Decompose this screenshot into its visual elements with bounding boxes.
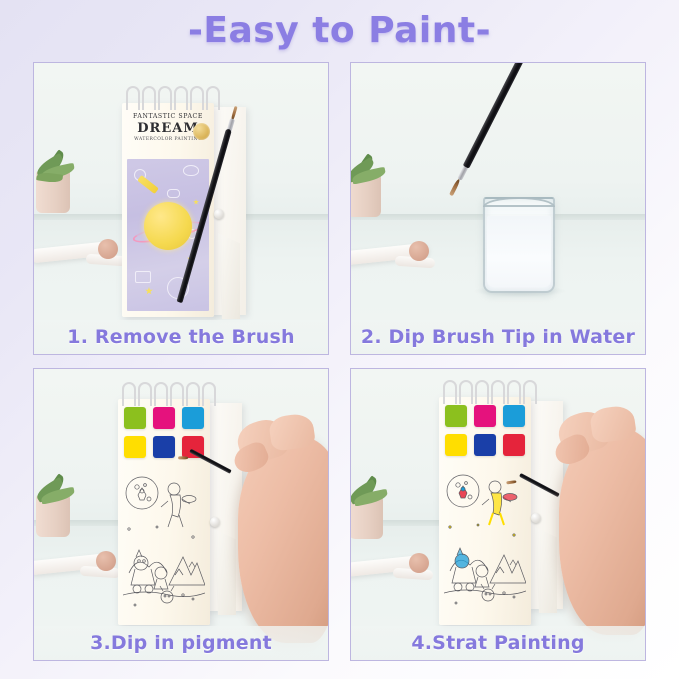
step-3-caption-bar: 3.Dip in pigment	[34, 626, 328, 660]
wood-knob-decor	[96, 551, 116, 571]
step-2-photo	[351, 63, 645, 354]
spiral-binding	[441, 380, 561, 406]
notebook-paint-page	[118, 399, 210, 625]
step-3-caption: 3.Dip in pigment	[90, 632, 272, 654]
wood-knob-decor	[409, 241, 429, 261]
step-1-caption-bar: 1. Remove the Brush	[34, 320, 328, 354]
gold-seal-icon	[193, 123, 210, 140]
step-panel-4: 4.Strat Painting	[350, 368, 646, 661]
step-1-photo: FANTASTIC SPACE DREAM WATERCOLOR PAINTIN…	[34, 63, 328, 354]
step-1-caption: 1. Remove the Brush	[67, 326, 294, 348]
swatch-yellow[interactable]	[124, 436, 146, 458]
pencil-doodle-icon	[137, 175, 159, 194]
step-4-caption-bar: 4.Strat Painting	[351, 626, 645, 660]
step-4-caption: 4.Strat Painting	[411, 632, 584, 654]
spiral-ring-icon	[443, 380, 457, 404]
page-title: -Easy to Paint-	[188, 10, 491, 51]
cover-line-1: FANTASTIC SPACE	[128, 113, 208, 120]
step-2-caption: 2. Dip Brush Tip in Water	[361, 326, 635, 348]
swatch-magenta[interactable]	[153, 407, 175, 429]
step-panel-3: 3.Dip in pigment	[33, 368, 329, 661]
spiral-ring-icon	[186, 382, 200, 406]
spiral-ring-icon	[174, 86, 188, 110]
hand	[519, 407, 645, 657]
step-2-caption-bar: 2. Dip Brush Tip in Water	[351, 320, 645, 354]
water-fill	[487, 216, 551, 287]
step-3-photo	[34, 369, 328, 660]
ufo-doodle-icon	[183, 165, 199, 176]
space-line-art-colored	[444, 465, 526, 605]
steps-grid: FANTASTIC SPACE DREAM WATERCOLOR PAINTIN…	[33, 62, 646, 670]
wood-knob-decor	[409, 553, 429, 573]
notebook-snap-button	[214, 209, 224, 219]
spiral-ring-icon	[523, 380, 537, 404]
spiral-ring-icon	[491, 380, 505, 404]
hand	[198, 415, 328, 660]
spiral-ring-icon	[126, 86, 140, 110]
star-icon	[145, 287, 153, 295]
spiral-ring-icon	[170, 382, 184, 406]
spiral-ring-icon	[138, 382, 152, 406]
swatch-yellow[interactable]	[445, 434, 467, 456]
swatch-green[interactable]	[445, 405, 467, 427]
step-panel-1: FANTASTIC SPACE DREAM WATERCOLOR PAINTIN…	[33, 62, 329, 355]
spiral-ring-icon	[202, 382, 216, 406]
step-4-photo	[351, 369, 645, 660]
swatch-blue[interactable]	[153, 436, 175, 458]
star-icon	[193, 199, 199, 205]
spiral-ring-icon	[190, 86, 204, 110]
spiral-ring-icon	[154, 382, 168, 406]
spiral-binding	[120, 382, 240, 408]
spiral-ring-icon	[158, 86, 172, 110]
notebook-paint-page	[439, 397, 531, 625]
spiral-ring-icon	[142, 86, 156, 110]
page-header: -Easy to Paint-	[0, 0, 679, 60]
spiral-ring-icon	[206, 86, 220, 110]
spiral-ring-icon	[475, 380, 489, 404]
spiral-ring-icon	[122, 382, 136, 406]
spiral-binding	[124, 86, 244, 112]
swatch-blue[interactable]	[474, 434, 496, 456]
paint-palette	[445, 405, 525, 459]
doodle-icon	[135, 271, 151, 283]
spiral-ring-icon	[459, 380, 473, 404]
wood-knob-decor	[98, 239, 118, 259]
step-panel-2: 2. Dip Brush Tip in Water	[350, 62, 646, 355]
water-glass	[483, 197, 555, 293]
planet-icon	[144, 202, 192, 250]
glass-rim	[483, 197, 555, 207]
swatch-green[interactable]	[124, 407, 146, 429]
brush-tip-icon	[178, 456, 188, 459]
space-line-art	[123, 467, 205, 607]
swatch-magenta[interactable]	[474, 405, 496, 427]
doodle-icon	[167, 189, 180, 198]
spiral-ring-icon	[507, 380, 521, 404]
notebook-front-cover: FANTASTIC SPACE DREAM WATERCOLOR PAINTIN…	[122, 103, 214, 317]
